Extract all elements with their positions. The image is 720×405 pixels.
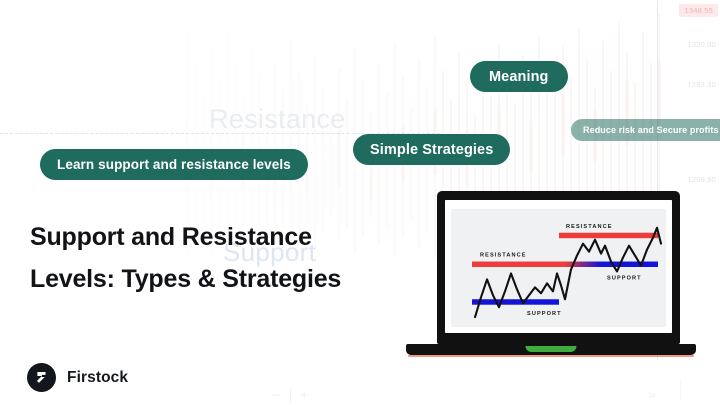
pill-meaning[interactable]: Meaning: [470, 61, 568, 92]
page-title: Support and Resistance Levels: Types & S…: [30, 216, 420, 300]
chart-label-resistance-upper: RESISTANCE: [566, 224, 613, 230]
price-tag: 1209.90: [687, 175, 716, 184]
laptop-base: [406, 344, 696, 355]
zoom-controls[interactable]: − +: [272, 388, 309, 403]
laptop-illustration: RESISTANCE SUPPORT RESISTANCE SUPPORT: [406, 191, 696, 366]
price-tag: 1320.00: [687, 40, 716, 49]
chart-label-support-upper: SUPPORT: [607, 275, 642, 281]
page-title-line-1: Support and Resistance: [30, 216, 420, 258]
chart-label-support-lower: SUPPORT: [527, 311, 562, 317]
watermark-resistance: Resistance: [209, 104, 346, 135]
zoom-out-icon[interactable]: −: [272, 388, 281, 403]
pill-learn-levels[interactable]: Learn support and resistance levels: [40, 149, 308, 180]
pill-simple-strategies[interactable]: Simple Strategies: [353, 134, 510, 165]
support-resistance-chart: RESISTANCE SUPPORT RESISTANCE SUPPORT: [445, 200, 672, 333]
laptop-trackpad-notch: [526, 346, 577, 352]
laptop-lid: RESISTANCE SUPPORT RESISTANCE SUPPORT: [437, 191, 680, 344]
control-divider: [290, 389, 291, 402]
laptop-shadow: [408, 355, 694, 357]
zoom-in-icon[interactable]: +: [300, 388, 309, 403]
next-chevron-icon[interactable]: »: [648, 386, 655, 402]
slide-canvas: 1348.55 1320.00 1283.30 1246.60 1209.90 …: [0, 0, 720, 405]
price-tag-current: 1348.55: [679, 4, 718, 17]
laptop-screen: RESISTANCE SUPPORT RESISTANCE SUPPORT: [445, 200, 672, 333]
control-divider-right: [680, 381, 681, 401]
brand-name: Firstock: [67, 369, 128, 387]
firstock-arrow-icon: [27, 363, 56, 392]
chart-label-resistance-lower: RESISTANCE: [480, 253, 527, 259]
brand-logo[interactable]: Firstock: [27, 363, 128, 392]
price-tag: 1283.30: [687, 80, 716, 89]
arrow-up-right-flag-icon: [33, 369, 50, 386]
page-title-line-2: Levels: Types & Strategies: [30, 258, 420, 300]
pill-reduce-risk[interactable]: Reduce risk and Secure profits: [571, 119, 720, 141]
